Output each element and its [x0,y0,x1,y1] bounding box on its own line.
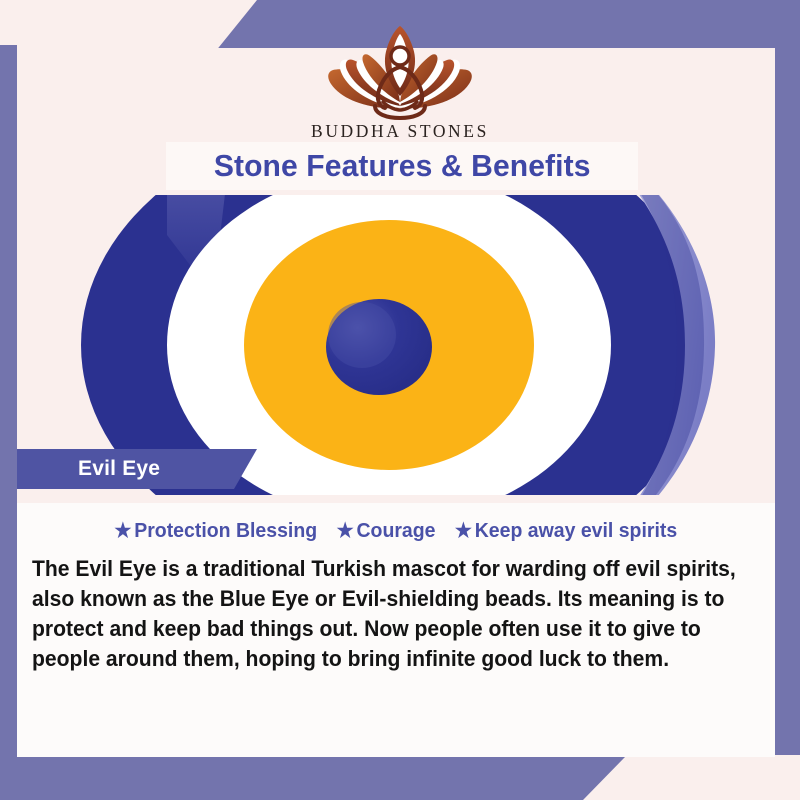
product-label-banner: Evil Eye [17,449,257,489]
benefit-item-2: ★Keep away evil spirits [455,518,677,543]
lotus-meditation-icon [305,22,495,120]
brand-block: BUDDHA STONES [0,22,800,142]
benefit-label-0: Protection Blessing [134,519,317,542]
star-icon: ★ [455,520,472,542]
star-icon: ★ [115,520,132,542]
benefit-item-0: ★Protection Blessing [115,518,318,543]
page-title: Stone Features & Benefits [214,148,591,184]
brand-name: BUDDHA STONES [0,121,800,142]
benefit-item-1: ★Courage [336,518,435,543]
star-icon: ★ [336,520,353,542]
frame-band-bottom [0,757,625,800]
benefit-label-1: Courage [356,519,435,542]
description-text: The Evil Eye is a traditional Turkish ma… [32,554,747,674]
frame-band-left [0,45,17,800]
headline-banner: Stone Features & Benefits [166,142,638,190]
benefit-label-2: Keep away evil spirits [475,519,677,542]
poster-canvas: BUDDHA STONES Stone Features & Benefits [0,0,800,800]
product-label: Evil Eye [78,457,160,481]
benefits-row: ★Protection Blessing★Courage★Keep away e… [17,518,775,543]
